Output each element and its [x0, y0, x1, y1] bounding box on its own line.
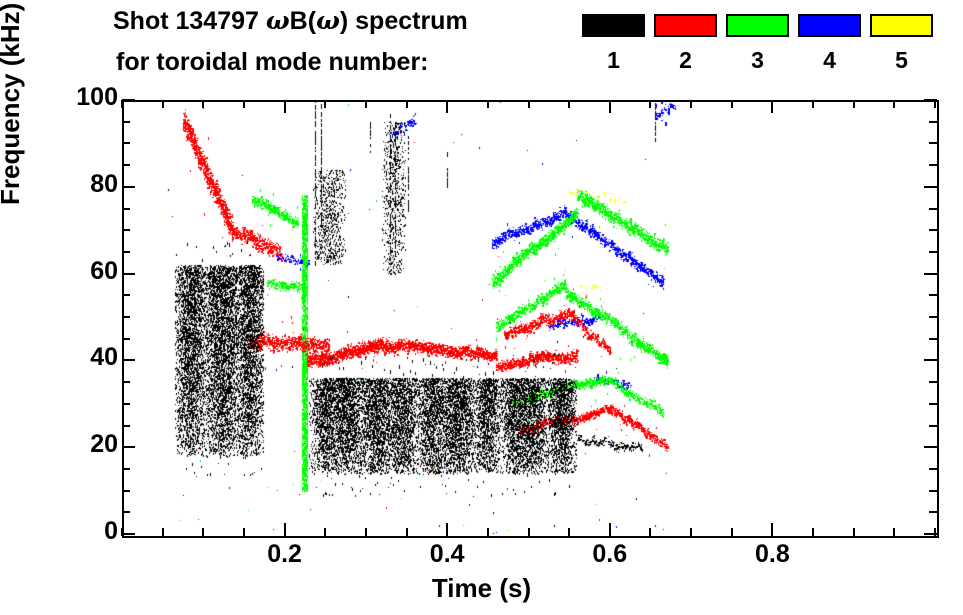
figure-title-line-1: Shot 134797 ωB(ω) spectrum — [113, 6, 468, 36]
x-tick-label-0.8: 0.8 — [732, 540, 812, 569]
title-text-pre: Shot 134797 — [113, 7, 266, 35]
title-text-mid: B( — [290, 7, 316, 35]
x-tick-minor-top-0.5 — [528, 100, 530, 108]
legend-label-n5: 5 — [870, 47, 933, 74]
y-tick-minor-5 — [122, 511, 130, 513]
y-tick-minor-right-30 — [929, 403, 937, 405]
x-tick-minor-0.35 — [406, 528, 408, 536]
y-tick-minor-right-85 — [929, 164, 937, 166]
x-tick-minor-top-0.95 — [893, 100, 895, 108]
y-tick-label-60: 60 — [48, 257, 118, 286]
x-tick-minor-top-0.1 — [202, 100, 204, 108]
legend-item-n1[interactable]: 1 — [582, 14, 645, 37]
x-tick-minor-1 — [934, 528, 936, 536]
x-tick-minor-top-0.85 — [812, 100, 814, 108]
x-tick-minor-top-0.35 — [406, 100, 408, 108]
legend-swatch-n1 — [582, 14, 645, 37]
legend-swatch-n2 — [654, 14, 717, 37]
legend-label-n1: 1 — [582, 47, 645, 74]
x-tick-major-0.8 — [771, 523, 773, 536]
x-axis-label: Time (s) — [0, 573, 963, 604]
x-tick-minor-top-0.65 — [649, 100, 651, 108]
x-tick-minor-top-0.3 — [365, 100, 367, 108]
x-tick-minor-0.85 — [812, 528, 814, 536]
x-tick-label-0.4: 0.4 — [407, 540, 487, 569]
legend-item-n3[interactable]: 3 — [726, 14, 789, 37]
y-tick-minor-15 — [122, 468, 130, 470]
legend-item-n2[interactable]: 2 — [654, 14, 717, 37]
y-tick-minor-right-75 — [929, 208, 937, 210]
x-tick-minor-0.05 — [162, 528, 164, 536]
x-tick-minor-top-0.75 — [731, 100, 733, 108]
x-tick-major-0.4 — [446, 523, 448, 536]
x-tick-minor-0.1 — [202, 528, 204, 536]
x-tick-labels: 0.20.40.60.8 — [0, 540, 963, 574]
legend-label-n3: 3 — [726, 47, 789, 74]
x-tick-minor-top-0.55 — [568, 100, 570, 108]
x-tick-label-0.2: 0.2 — [245, 540, 325, 569]
x-tick-minor-0.65 — [649, 528, 651, 536]
y-tick-minor-10 — [122, 490, 130, 492]
y-axis-label-container: Frequency (kHz) — [0, 0, 29, 205]
x-tick-minor-0.3 — [365, 528, 367, 536]
y-axis-label: Frequency (kHz) — [0, 3, 26, 205]
legend-swatch-n4 — [798, 14, 861, 37]
y-tick-minor-25 — [122, 425, 130, 427]
x-tick-minor-0.25 — [324, 528, 326, 536]
x-tick-major-top-0.2 — [284, 100, 286, 113]
spectrogram-figure: Shot 134797 ωB(ω) spectrum for toroidal … — [0, 0, 963, 615]
y-tick-minor-35 — [122, 381, 130, 383]
y-tick-minor-70 — [122, 229, 130, 231]
x-tick-major-0.2 — [284, 523, 286, 536]
x-tick-minor-top-0 — [121, 100, 123, 108]
x-tick-minor-top-0.7 — [690, 100, 692, 108]
spectrogram-canvas — [122, 100, 935, 534]
y-tick-label-100: 100 — [48, 83, 118, 112]
y-tick-minor-right-15 — [929, 468, 937, 470]
y-tick-minor-55 — [122, 294, 130, 296]
x-tick-minor-0.9 — [853, 528, 855, 536]
y-tick-major-right-20 — [924, 446, 937, 448]
legend-item-n5[interactable]: 5 — [870, 14, 933, 37]
x-tick-minor-top-1 — [934, 100, 936, 108]
y-tick-minor-right-65 — [929, 251, 937, 253]
omega-symbol-1: ω — [266, 6, 290, 35]
y-tick-minor-right-25 — [929, 425, 937, 427]
x-tick-minor-0.55 — [568, 528, 570, 536]
y-tick-minor-right-45 — [929, 338, 937, 340]
x-tick-minor-top-0.25 — [324, 100, 326, 108]
legend-label-n2: 2 — [654, 47, 717, 74]
x-tick-minor-0 — [121, 528, 123, 536]
y-tick-major-100 — [122, 99, 135, 101]
x-tick-major-top-0.6 — [609, 100, 611, 113]
x-tick-label-0.6: 0.6 — [570, 540, 650, 569]
legend-swatch-n3 — [726, 14, 789, 37]
y-tick-label-40: 40 — [48, 343, 118, 372]
y-tick-label-20: 20 — [48, 430, 118, 459]
x-tick-major-top-0.8 — [771, 100, 773, 113]
legend: 12345 — [582, 14, 942, 84]
y-tick-minor-65 — [122, 251, 130, 253]
y-tick-major-right-60 — [924, 273, 937, 275]
y-tick-minor-right-70 — [929, 229, 937, 231]
legend-swatch-n5 — [870, 14, 933, 37]
x-tick-minor-0.75 — [731, 528, 733, 536]
y-tick-minor-right-5 — [929, 511, 937, 513]
title-text-post: ) spectrum — [340, 7, 468, 35]
x-tick-minor-0.15 — [243, 528, 245, 536]
y-tick-minor-right-35 — [929, 381, 937, 383]
y-tick-minor-right-90 — [929, 142, 937, 144]
x-tick-minor-top-0.05 — [162, 100, 164, 108]
y-tick-minor-50 — [122, 316, 130, 318]
y-tick-minor-right-10 — [929, 490, 937, 492]
y-tick-major-right-80 — [924, 186, 937, 188]
x-tick-minor-top-0.15 — [243, 100, 245, 108]
x-tick-minor-top-0.45 — [487, 100, 489, 108]
y-tick-minor-75 — [122, 208, 130, 210]
y-tick-minor-right-50 — [929, 316, 937, 318]
y-tick-minor-right-55 — [929, 294, 937, 296]
y-tick-major-20 — [122, 446, 135, 448]
omega-symbol-2: ω — [316, 6, 340, 35]
y-tick-major-80 — [122, 186, 135, 188]
x-tick-major-top-0.4 — [446, 100, 448, 113]
y-tick-minor-90 — [122, 142, 130, 144]
y-tick-major-0 — [122, 533, 135, 535]
legend-item-n4[interactable]: 4 — [798, 14, 861, 37]
y-tick-major-60 — [122, 273, 135, 275]
y-tick-labels: 020406080100 — [30, 100, 118, 534]
y-tick-major-40 — [122, 359, 135, 361]
x-tick-major-0.6 — [609, 523, 611, 536]
y-tick-major-right-40 — [924, 359, 937, 361]
figure-title-line-2: for toroidal mode number: — [116, 48, 429, 77]
x-tick-minor-0.95 — [893, 528, 895, 536]
y-tick-minor-right-95 — [929, 121, 937, 123]
y-tick-label-80: 80 — [48, 170, 118, 199]
y-tick-minor-95 — [122, 121, 130, 123]
x-tick-minor-top-0.9 — [853, 100, 855, 108]
legend-label-n4: 4 — [798, 47, 861, 74]
y-tick-minor-45 — [122, 338, 130, 340]
x-tick-minor-0.45 — [487, 528, 489, 536]
x-tick-minor-0.7 — [690, 528, 692, 536]
x-tick-minor-0.5 — [528, 528, 530, 536]
y-tick-minor-30 — [122, 403, 130, 405]
y-tick-minor-85 — [122, 164, 130, 166]
plot-area — [122, 100, 935, 534]
